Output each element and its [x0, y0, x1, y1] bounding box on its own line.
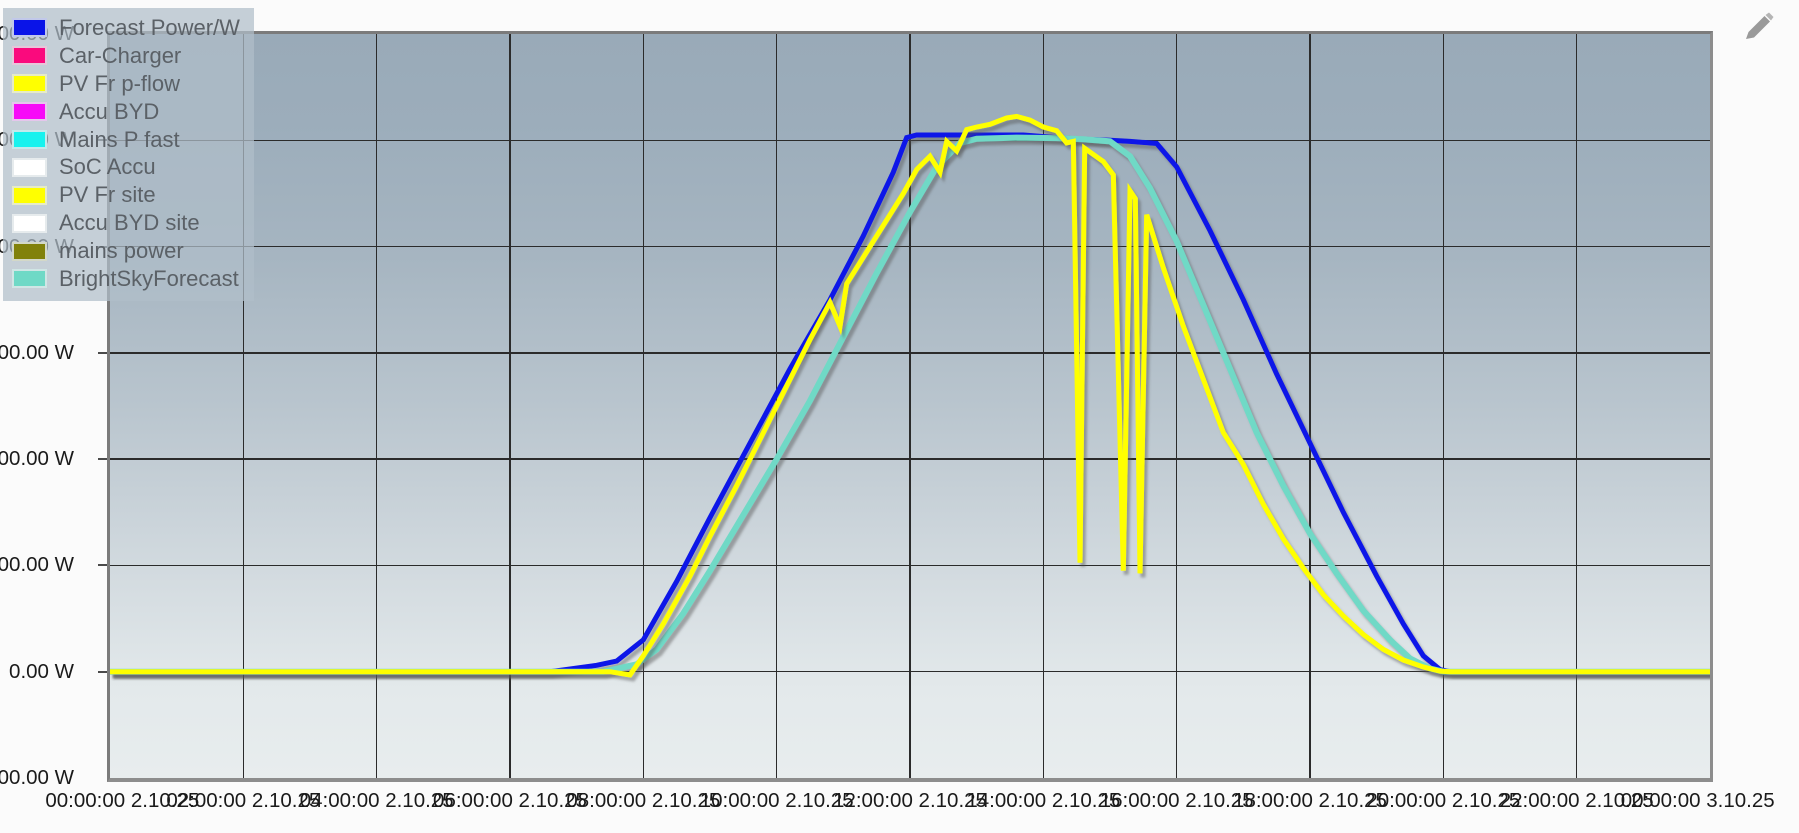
- y-axis-tick-label: 4000.00 W: [0, 449, 74, 470]
- legend-color-swatch: [12, 214, 47, 233]
- legend-item-label: Car-Charger: [59, 45, 181, 67]
- legend-color-swatch: [12, 130, 47, 149]
- edit-pencil-button[interactable]: [1738, 8, 1778, 48]
- legend-color-swatch: [12, 46, 47, 65]
- legend-item-label: SoC Accu: [59, 156, 156, 178]
- legend-item-label: PV Fr site: [59, 184, 156, 206]
- legend-item[interactable]: BrightSkyForecast: [12, 265, 240, 293]
- legend-color-swatch: [12, 18, 47, 37]
- y-axis-tick-mark: [98, 564, 107, 566]
- y-axis-tick-mark: [98, 671, 107, 673]
- y-axis-tick-label: -2000.00 W: [0, 768, 74, 789]
- legend-item-label: Accu BYD site: [59, 212, 200, 234]
- x-axis-tick-label: 06:00:00 2.10.25: [433, 789, 587, 813]
- y-axis-tick-label: 0.00 W: [0, 662, 74, 683]
- legend-item[interactable]: SoC Accu: [12, 153, 240, 181]
- x-axis-tick-label: 04:00:00 2.10.25: [300, 789, 454, 813]
- plot-inner: [110, 34, 1710, 778]
- series-line: [110, 116, 1710, 675]
- legend-item-label: PV Fr p-flow: [59, 73, 180, 95]
- legend-item[interactable]: Car-Charger: [12, 42, 240, 70]
- legend-item[interactable]: Accu BYD site: [12, 209, 240, 237]
- legend-color-swatch: [12, 102, 47, 121]
- legend: Forecast Power/WCar-ChargerPV Fr p-flowA…: [3, 8, 254, 301]
- y-axis-tick-label: 6000.00 W: [0, 343, 74, 364]
- legend-item[interactable]: Mains P fast: [12, 126, 240, 154]
- legend-item-label: Mains P fast: [59, 129, 180, 151]
- series-layer: [110, 34, 1710, 778]
- x-axis-tick-label: 14:00:00 2.10.25: [966, 789, 1120, 813]
- y-axis-tick-label: 2000.00 W: [0, 555, 74, 576]
- series-line: [110, 138, 1710, 672]
- chart-page: Mains Power - Accu PV Fronius 12000.00 W…: [0, 0, 1799, 833]
- pencil-icon: [1738, 8, 1778, 48]
- legend-color-swatch: [12, 269, 47, 288]
- legend-item[interactable]: PV Fr p-flow: [12, 70, 240, 98]
- legend-item[interactable]: mains power: [12, 237, 240, 265]
- legend-item[interactable]: PV Fr site: [12, 181, 240, 209]
- y-axis-tick-mark: [98, 352, 107, 354]
- x-axis-tick-label: 16:00:00 2.10.25: [1100, 789, 1254, 813]
- legend-item-label: mains power: [59, 240, 184, 262]
- legend-color-swatch: [12, 186, 47, 205]
- legend-color-swatch: [12, 242, 47, 261]
- legend-item[interactable]: Accu BYD: [12, 98, 240, 126]
- x-axis-tick-label: 18:00:00 2.10.25: [1233, 789, 1387, 813]
- legend-item[interactable]: Forecast Power/W: [12, 14, 240, 42]
- x-axis-tick-label: 02:00:00 2.10.25: [166, 789, 320, 813]
- legend-color-swatch: [12, 158, 47, 177]
- legend-color-swatch: [12, 74, 47, 93]
- legend-item-label: BrightSkyForecast: [59, 268, 239, 290]
- x-axis-tick-label: 08:00:00 2.10.25: [566, 789, 720, 813]
- x-axis-tick-label: 00:00:00 3.10.25: [1621, 789, 1775, 813]
- x-axis-tick-label: 20:00:00 2.10.25: [1366, 789, 1520, 813]
- y-axis-tick-mark: [98, 458, 107, 460]
- plot-area: [107, 31, 1713, 782]
- legend-item-label: Accu BYD: [59, 101, 159, 123]
- x-axis-tick-label: 12:00:00 2.10.25: [833, 789, 987, 813]
- legend-item-label: Forecast Power/W: [59, 17, 240, 39]
- x-axis-tick-label: 10:00:00 2.10.25: [700, 789, 854, 813]
